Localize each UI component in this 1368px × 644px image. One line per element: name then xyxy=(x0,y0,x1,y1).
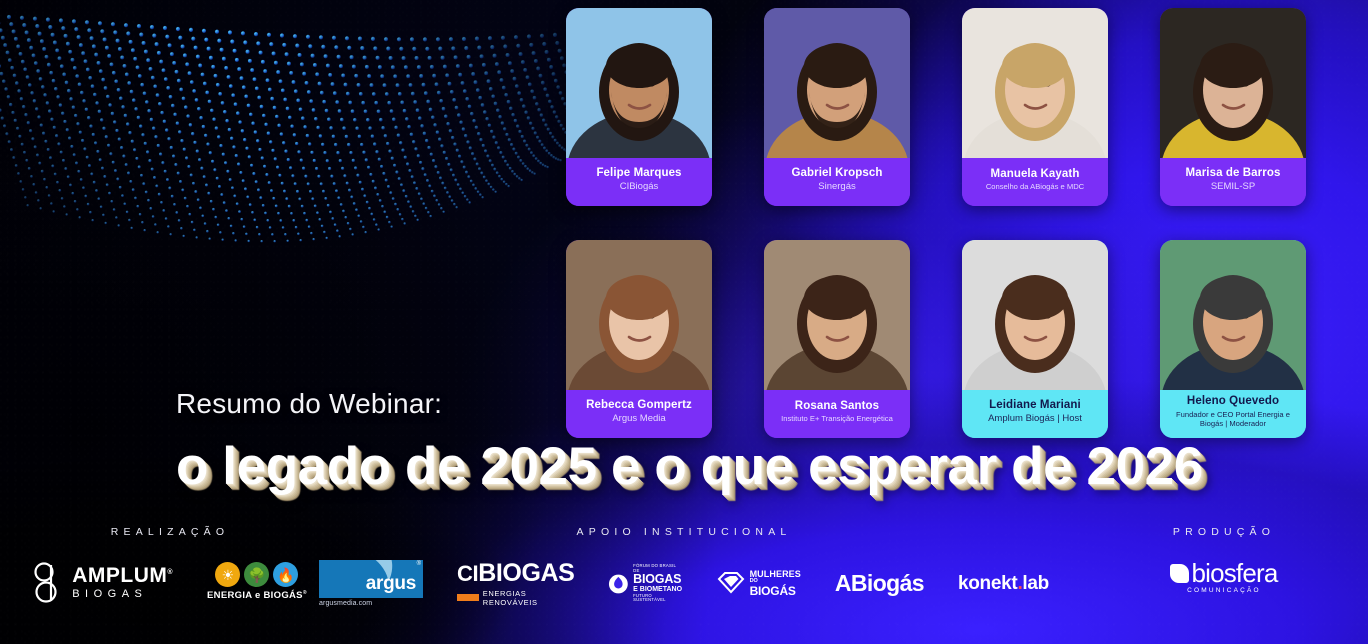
forum-line4: FUTURO SUSTENTÁVEL xyxy=(633,594,682,603)
speaker-photo xyxy=(566,8,712,158)
speaker-org: Sinergás xyxy=(768,181,906,192)
tree-icon: 🌳 xyxy=(244,562,269,587)
speaker-portrait-icon xyxy=(764,240,910,390)
argus-media-logo: ® argus argusmedia.com xyxy=(319,560,423,607)
cibiogas-orange-bar-icon xyxy=(457,594,479,601)
konekt-lab-logo: konekt.lab xyxy=(958,573,1049,595)
speaker-name: Gabriel Kropsch xyxy=(768,167,906,180)
speaker-label: Felipe MarquesCIBiogás xyxy=(566,158,712,206)
webinar-headline: o legado de 2025 e o que esperar de 2026 xyxy=(176,436,1236,497)
forum-line2: BIOGAS xyxy=(633,573,682,586)
speaker-portrait-icon xyxy=(962,8,1108,158)
argus-url: argusmedia.com xyxy=(319,600,423,607)
speaker-portrait-icon xyxy=(1160,240,1306,390)
amplum-name: AMPLUM xyxy=(72,564,167,587)
abiogas-logo: ABiogás xyxy=(835,570,924,597)
speaker-grid: Felipe MarquesCIBiogás Gabriel KropschSi… xyxy=(566,8,1326,440)
webinar-kicker: Resumo do Webinar: xyxy=(176,388,1236,420)
speaker-org: CIBiogás xyxy=(570,181,708,192)
biosfera-leaf-icon xyxy=(1170,564,1189,583)
amplum-registered-icon: ® xyxy=(167,569,173,576)
speaker-card[interactable]: Marisa de BarrosSEMIL-SP xyxy=(1160,8,1306,206)
poster-canvas: Felipe MarquesCIBiogás Gabriel KropschSi… xyxy=(0,0,1368,644)
realizacao-heading: REALIZAÇÃO xyxy=(0,526,340,538)
footer-section-realizacao: REALIZAÇÃO AMPLUM® BIOGAS ☀ xyxy=(0,526,340,604)
energia-biogas-logo: ☀ 🌳 🔥 ENERGIA e BIOGÁS® xyxy=(207,562,307,601)
biosfera-sub: COMUNICAÇÃO xyxy=(1170,587,1277,594)
argus-mark: ® argus xyxy=(319,560,423,598)
forum-biogas-logo: FÓRUM DO BRASIL DE BIOGAS E BIOMETANO FU… xyxy=(608,564,682,602)
footer-section-producao: PRODUÇÃO biosfera COMUNICAÇÃO xyxy=(1080,526,1368,594)
speaker-card[interactable]: Manuela KayathConselho da ABiogás e MDC xyxy=(962,8,1108,206)
realizacao-logos: AMPLUM® BIOGAS ☀ 🌳 🔥 ENERGIA e BIOGÁS® xyxy=(0,560,340,604)
cibiogas-ci: CI xyxy=(457,561,478,586)
speaker-name: Marisa de Barros xyxy=(1164,167,1302,180)
speaker-card[interactable]: Gabriel KropschSinergás xyxy=(764,8,910,206)
amplum-biogas-logo: AMPLUM® BIOGAS xyxy=(33,560,173,604)
konekt-pre: konekt xyxy=(958,573,1017,594)
speaker-org: Conselho da ABiogás e MDC xyxy=(966,182,1104,191)
amplum-wordmark: AMPLUM® BIOGAS xyxy=(72,565,173,600)
mulheres-do-biogas-logo: MULHERES DO BIOGÁS xyxy=(717,570,801,597)
producao-logos: biosfera COMUNICAÇÃO xyxy=(1080,560,1368,594)
energia-biogas-text: ENERGIA e BIOGÁS xyxy=(207,591,303,602)
speaker-portrait-icon xyxy=(566,8,712,158)
speaker-photo xyxy=(962,8,1108,158)
speaker-name: Felipe Marques xyxy=(570,167,708,180)
speaker-portrait-icon xyxy=(1160,8,1306,158)
amplum-sub: BIOGAS xyxy=(72,589,173,600)
cibiogas-biogas: BIOGAS xyxy=(478,559,574,587)
speaker-row-1: Felipe MarquesCIBiogás Gabriel KropschSi… xyxy=(566,8,1326,206)
footer-logo-bar: REALIZAÇÃO AMPLUM® BIOGAS ☀ xyxy=(0,512,1368,644)
speaker-label: Manuela KayathConselho da ABiogás e MDC xyxy=(962,158,1108,206)
sun-icon: ☀ xyxy=(215,562,240,587)
apoio-heading: APOIO INSTITUCIONAL xyxy=(370,526,998,538)
speaker-card[interactable]: Felipe MarquesCIBiogás xyxy=(566,8,712,206)
cibiogas-logo: CIBIOGAS ENERGIAS RENOVÁVEIS xyxy=(457,561,574,607)
producao-heading: PRODUÇÃO xyxy=(1080,526,1368,538)
flame-icon: 🔥 xyxy=(273,562,298,587)
speaker-org: SEMIL-SP xyxy=(1164,181,1302,192)
speaker-portrait-icon xyxy=(764,8,910,158)
apoio-logos: ® argus argusmedia.com CIBIOGAS ENERGIAS… xyxy=(370,560,998,607)
speaker-portrait-icon xyxy=(962,240,1108,390)
speaker-label: Marisa de BarrosSEMIL-SP xyxy=(1160,158,1306,206)
argus-wordmark: argus xyxy=(366,573,423,598)
speaker-portrait-icon xyxy=(566,240,712,390)
speaker-photo xyxy=(764,8,910,158)
speaker-label: Gabriel KropschSinergás xyxy=(764,158,910,206)
speaker-photo xyxy=(1160,8,1306,158)
argus-registered-icon: ® xyxy=(417,561,421,567)
mulheres-line3: BIOGÁS xyxy=(750,585,801,597)
title-block: Resumo do Webinar: o legado de 2025 e o … xyxy=(176,388,1236,497)
konekt-post: lab xyxy=(1022,573,1049,594)
biosfera-logo: biosfera COMUNICAÇÃO xyxy=(1170,560,1277,594)
energia-registered-icon: ® xyxy=(303,590,307,596)
speaker-name: Manuela Kayath xyxy=(966,168,1104,181)
cibiogas-sub: ENERGIAS RENOVÁVEIS xyxy=(483,589,575,607)
amplum-infinity-icon xyxy=(33,560,67,604)
mulheres-heart-icon xyxy=(717,571,745,595)
speaker-photo xyxy=(566,240,712,390)
biogas-droplet-flame-icon xyxy=(608,571,629,597)
energia-biogas-icons: ☀ 🌳 🔥 xyxy=(207,562,307,587)
speaker-photo xyxy=(1160,240,1306,390)
biosfera-wordmark: biosfera xyxy=(1191,560,1277,586)
speaker-photo xyxy=(764,240,910,390)
speaker-photo xyxy=(962,240,1108,390)
footer-section-apoio: APOIO INSTITUCIONAL ® argus argusmedia.c… xyxy=(370,526,998,607)
